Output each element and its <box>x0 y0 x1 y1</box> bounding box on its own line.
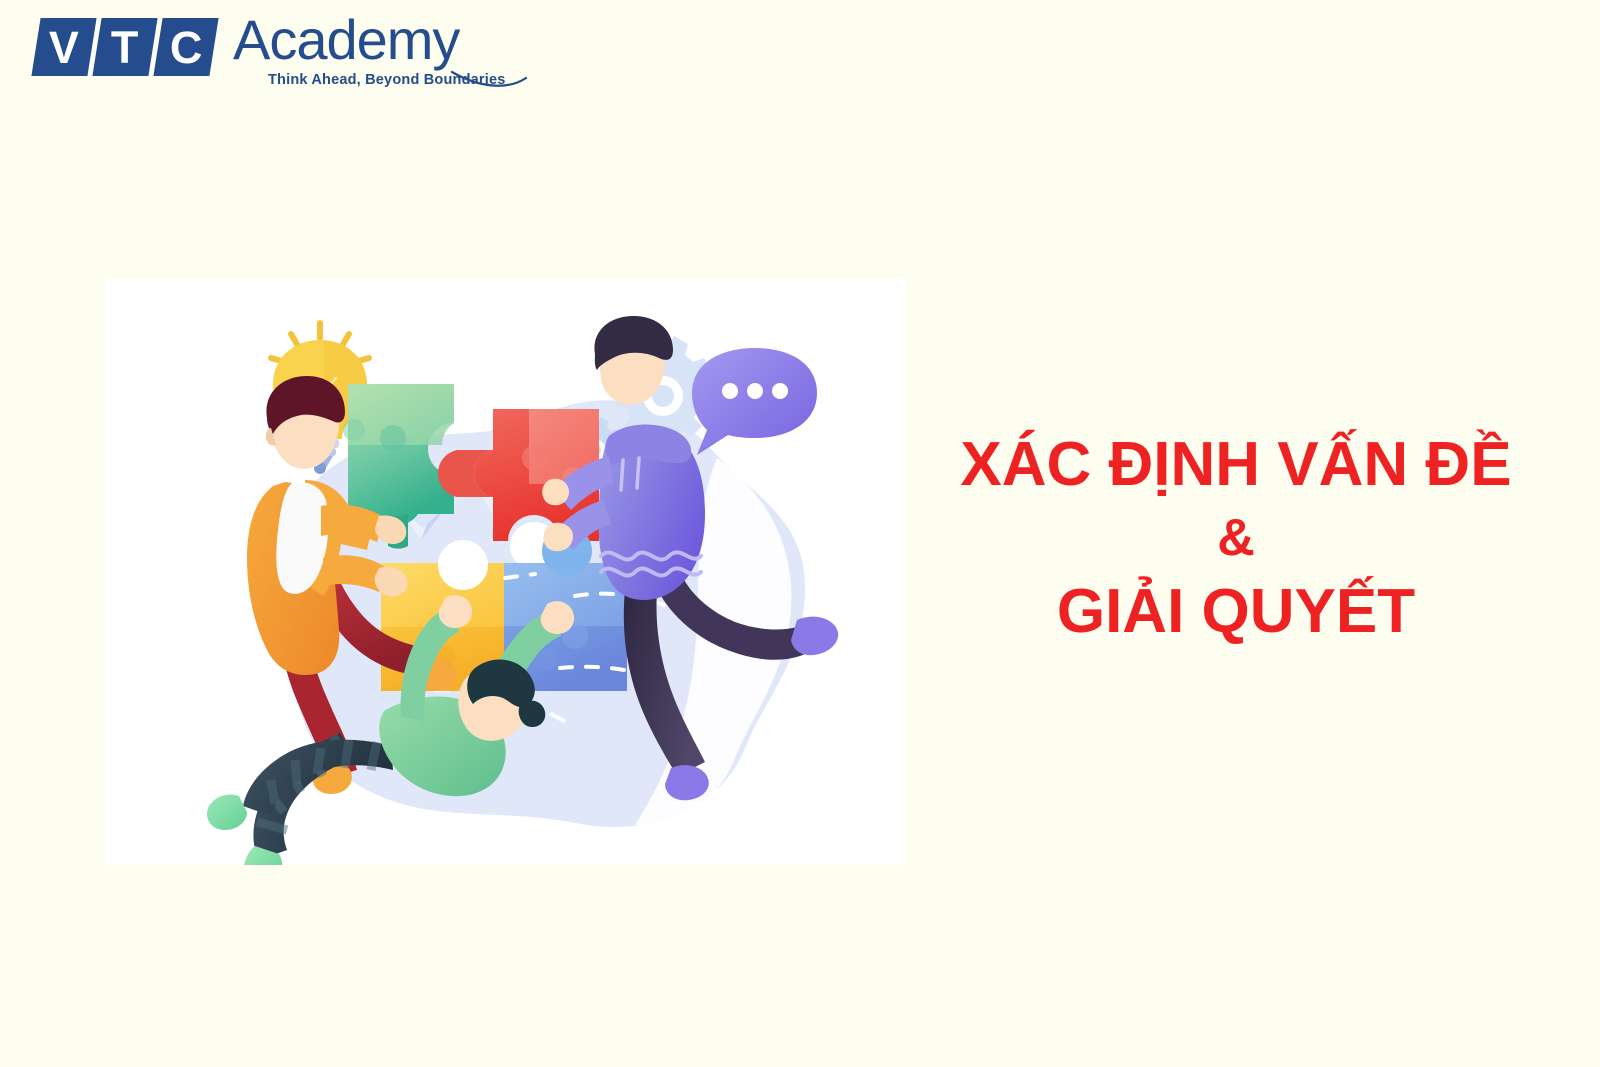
logo-tile-t: T <box>92 18 157 76</box>
headline-block: XÁC ĐỊNH VẤN ĐỀ & GIẢI QUYẾT <box>906 430 1566 647</box>
logo-tile-t-letter: T <box>111 25 139 70</box>
vtc-academy-logo: V T C Academy Think Ahead, Beyond Bounda… <box>36 14 506 94</box>
headline-line-3: GIẢI QUYẾT <box>906 577 1566 646</box>
headline-ampersand: & <box>906 499 1566 577</box>
speech-bubble-icon <box>692 348 817 455</box>
logo-tile-v-letter: V <box>49 25 79 70</box>
logo-tiles: V T C <box>36 18 214 76</box>
teamwork-puzzle-illustration <box>105 278 906 865</box>
headline-line-1: XÁC ĐỊNH VẤN ĐỀ <box>906 430 1566 499</box>
logo-wordmark: Academy <box>233 12 459 68</box>
logo-tile-c-letter: C <box>170 25 203 70</box>
logo-swoosh-icon <box>450 70 530 92</box>
logo-tile-c: C <box>153 18 218 76</box>
logo-tile-v: V <box>31 18 96 76</box>
illustration-panel <box>105 278 906 865</box>
